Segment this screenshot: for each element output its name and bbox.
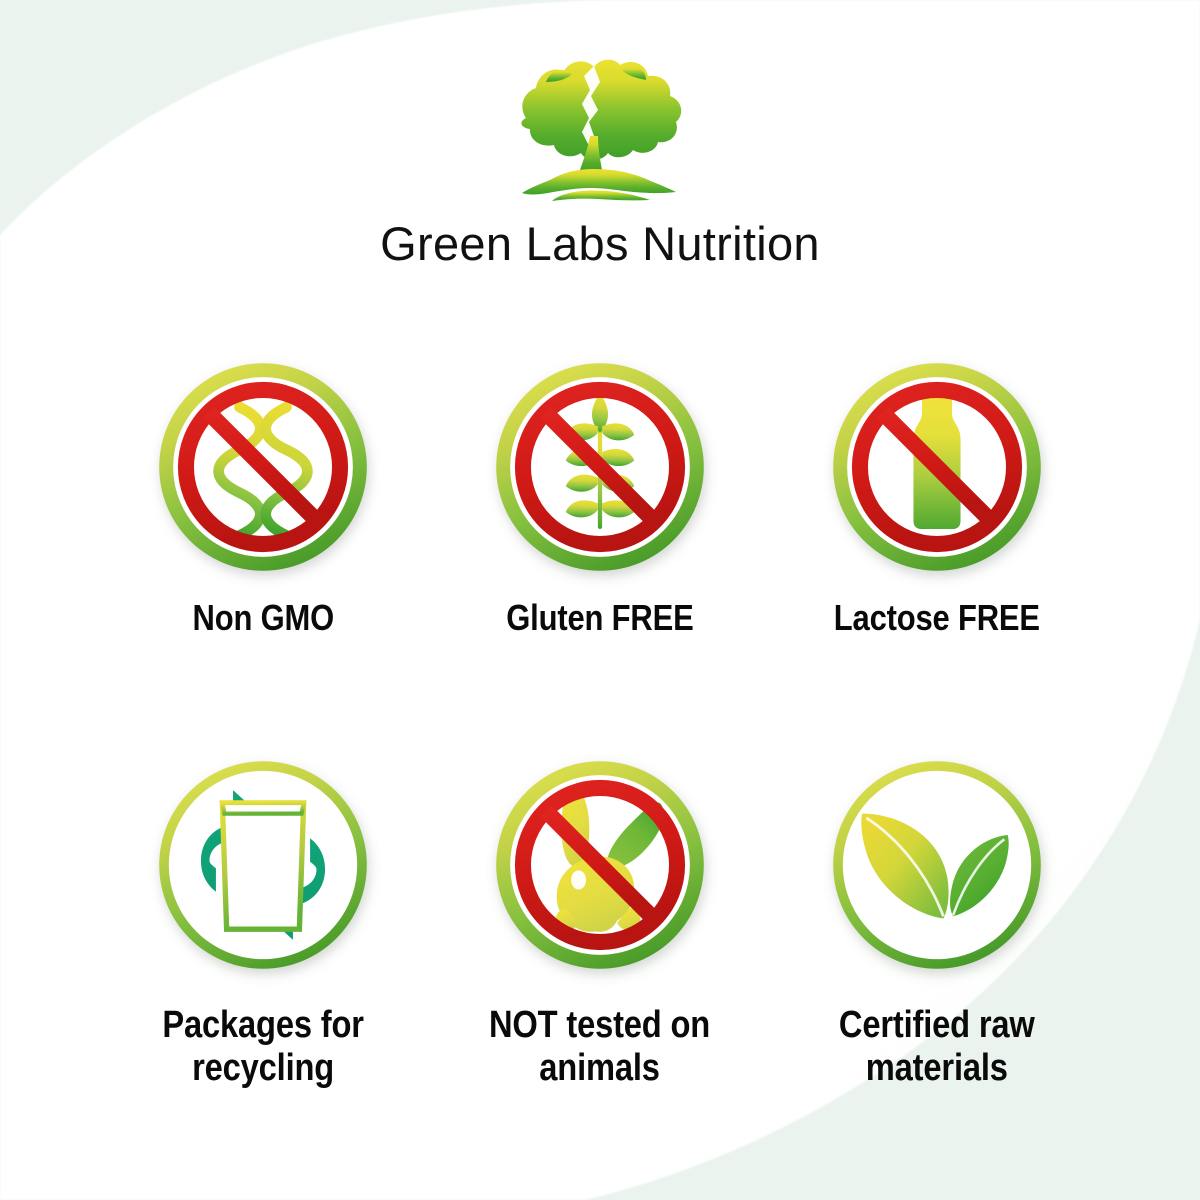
badge-cell-lactose-free[interactable]: Lactose FREE [769,352,1106,638]
badge-label: Certified raw materials [839,1004,1035,1089]
badge-cell-gluten-free[interactable]: Gluten FREE [432,352,769,638]
brand-header: Green Labs Nutrition [0,52,1200,270]
badge-lactose-free[interactable] [822,352,1052,582]
badge-packages-for-recycling[interactable] [148,750,378,980]
badge-label: NOT tested on animals [489,1004,710,1089]
recycling-package-icon [156,758,370,972]
badge-cell-certified-raw-materials[interactable]: Certified raw materials [769,750,1106,1089]
rabbit-head-icon [493,758,707,972]
badge-row-1: Non GMO [0,352,1200,638]
tree-logo-icon [490,52,710,212]
infographic-canvas: Green Labs Nutrition [0,0,1200,1200]
badge-cell-not-tested-on-animals[interactable]: NOT tested on animals [432,750,769,1089]
badge-not-tested-on-animals[interactable] [485,750,715,980]
page-title: Green Labs Nutrition [0,218,1200,270]
wheat-stalk-icon [493,360,707,574]
badge-label: Gluten FREE [506,598,693,638]
milk-bottle-icon [830,360,1044,574]
badge-cell-packages-for-recycling[interactable]: Packages for recycling [95,750,432,1089]
badge-row-2: Packages for recycling [0,750,1200,1089]
badge-gluten-free[interactable] [485,352,715,582]
dna-helix-icon [156,360,370,574]
two-leaves-icon [830,758,1044,972]
badge-label: Non GMO [192,598,334,638]
badge-label: Packages for recycling [162,1004,363,1089]
badge-label: Lactose FREE [834,598,1040,638]
certification-grid: Non GMO [0,352,1200,1089]
badge-non-gmo[interactable] [148,352,378,582]
badge-certified-raw-materials[interactable] [822,750,1052,980]
badge-cell-non-gmo[interactable]: Non GMO [95,352,432,638]
